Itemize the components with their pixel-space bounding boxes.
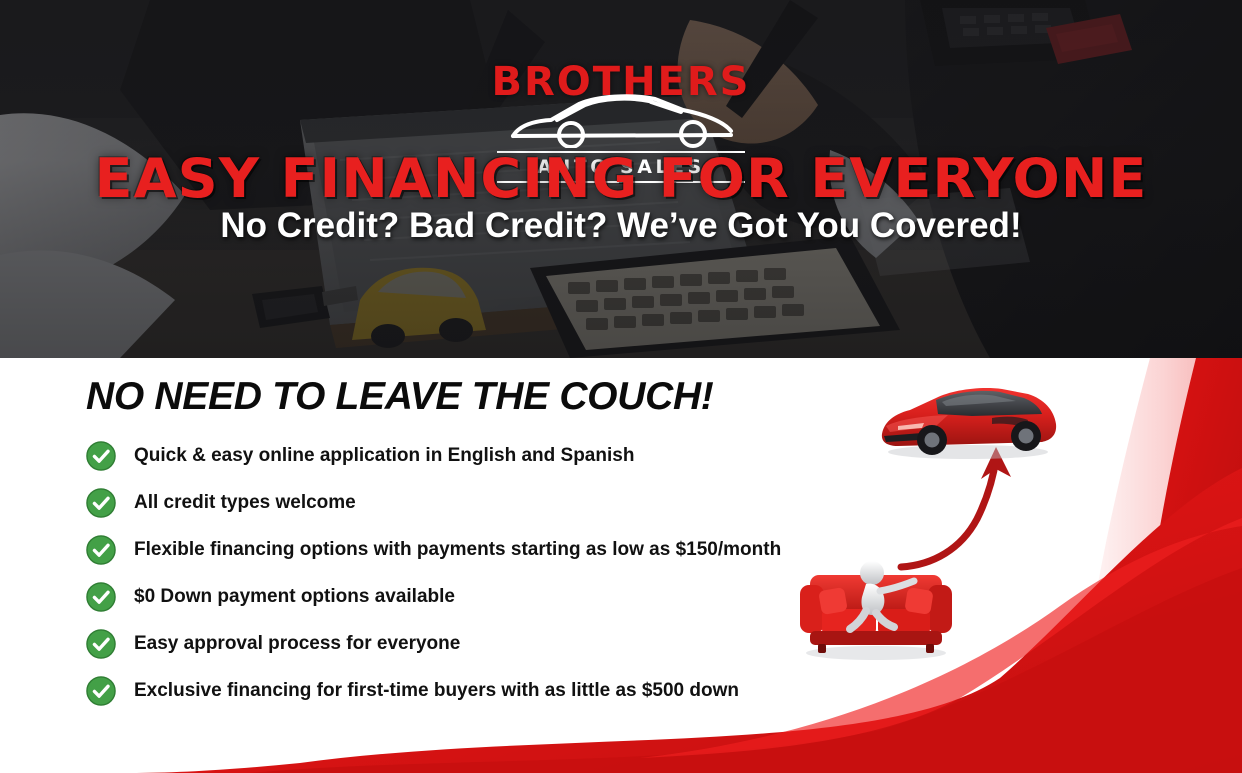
green-check-icon: [86, 582, 116, 612]
benefit-text: Quick & easy online application in Engli…: [134, 445, 634, 467]
benefit-text: Exclusive financing for first-time buyer…: [134, 680, 739, 702]
benefit-text: Easy approval process for everyone: [134, 633, 460, 655]
hero-headline: EASY FINANCING FOR EVERYONE: [0, 152, 1242, 206]
list-item: Flexible financing options with payments…: [86, 526, 781, 573]
red-sports-car-image: [876, 380, 1060, 460]
list-item: Easy approval process for everyone: [86, 620, 781, 667]
benefits-list: Quick & easy online application in Engli…: [86, 432, 781, 714]
benefits-section: NO NEED TO LEAVE THE COUCH! Quick & easy…: [0, 358, 1242, 773]
list-item: $0 Down payment options available: [86, 573, 781, 620]
benefit-text: All credit types welcome: [134, 492, 356, 514]
hero-subheadline: No Credit? Bad Credit? We’ve Got You Cov…: [0, 205, 1242, 247]
green-check-icon: [86, 676, 116, 706]
green-check-icon: [86, 629, 116, 659]
red-couch-with-person-image: [796, 551, 956, 661]
list-item: Quick & easy online application in Engli…: [86, 432, 781, 479]
promo-flyer: BROTHERS AUTO SALES EASY FINANCING FOR E…: [0, 0, 1242, 773]
panel-title: NO NEED TO LEAVE THE COUCH!: [86, 375, 714, 419]
benefit-text: Flexible financing options with payments…: [134, 539, 781, 561]
list-item: All credit types welcome: [86, 479, 781, 526]
green-check-icon: [86, 488, 116, 518]
green-check-icon: [86, 441, 116, 471]
hero-section: BROTHERS AUTO SALES EASY FINANCING FOR E…: [0, 0, 1242, 358]
list-item: Exclusive financing for first-time buyer…: [86, 667, 781, 714]
green-check-icon: [86, 535, 116, 565]
benefit-text: $0 Down payment options available: [134, 586, 455, 608]
